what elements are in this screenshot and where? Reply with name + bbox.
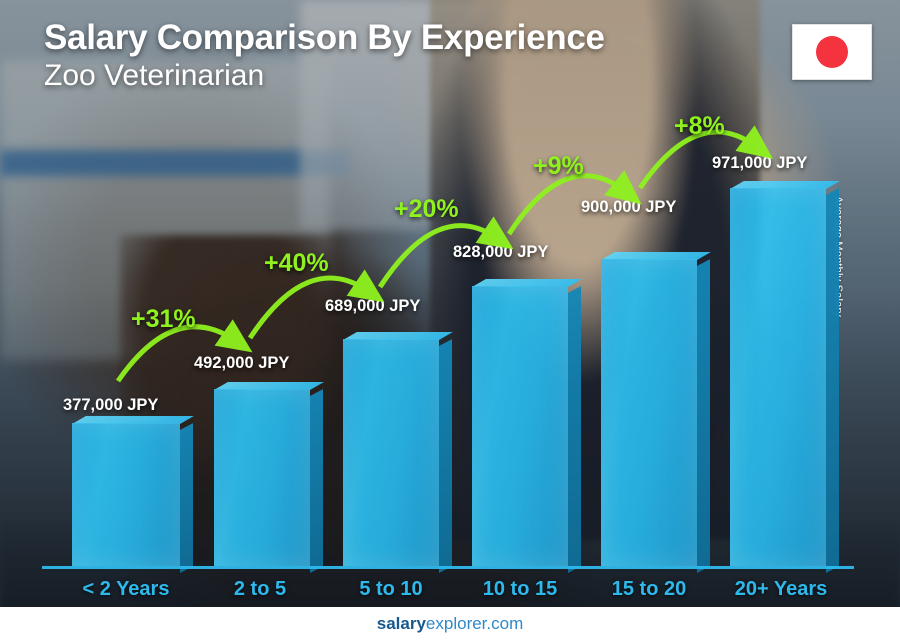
footer-bar: salaryexplorer.com bbox=[0, 607, 900, 641]
bar-5 bbox=[730, 188, 826, 566]
bar-0 bbox=[72, 423, 180, 566]
bar-face-0 bbox=[72, 423, 180, 566]
bar-4 bbox=[601, 259, 697, 566]
bar-face-1 bbox=[214, 389, 310, 566]
brand-salary: salary bbox=[377, 614, 426, 633]
bar-value-2: 689,000 JPY bbox=[325, 297, 420, 316]
bar-value-0: 377,000 JPY bbox=[63, 396, 158, 415]
x-label-0: < 2 Years bbox=[52, 578, 200, 601]
growth-label-0: +31% bbox=[131, 305, 196, 334]
site-brand[interactable]: salaryexplorer.com bbox=[0, 607, 900, 641]
brand-tld: .com bbox=[486, 614, 523, 633]
brand-explorer: explorer bbox=[426, 614, 486, 633]
bar-face-2 bbox=[343, 339, 439, 566]
growth-label-2: +20% bbox=[394, 195, 459, 224]
bar-value-1: 492,000 JPY bbox=[194, 354, 289, 373]
bar-3 bbox=[472, 286, 568, 566]
x-axis-line bbox=[42, 566, 854, 569]
growth-label-3: +9% bbox=[533, 152, 584, 181]
bar-side-2 bbox=[439, 339, 452, 573]
bar-side-5 bbox=[826, 188, 839, 573]
chart-canvas: Salary Comparison By Experience Zoo Vete… bbox=[0, 0, 900, 641]
growth-label-1: +40% bbox=[264, 249, 329, 278]
bar-value-4: 900,000 JPY bbox=[581, 198, 676, 217]
bar-2 bbox=[343, 339, 439, 566]
growth-label-4: +8% bbox=[674, 112, 725, 141]
bar-face-4 bbox=[601, 259, 697, 566]
bar-side-3 bbox=[568, 286, 581, 573]
bar-face-5 bbox=[730, 188, 826, 566]
bar-value-5: 971,000 JPY bbox=[712, 154, 807, 173]
x-label-5: 20+ Years bbox=[708, 578, 854, 601]
x-label-1: 2 to 5 bbox=[190, 578, 330, 601]
bar-face-3 bbox=[472, 286, 568, 566]
x-label-4: 15 to 20 bbox=[576, 578, 722, 601]
x-label-3: 10 to 15 bbox=[447, 578, 593, 601]
bar-1 bbox=[214, 389, 310, 566]
x-label-2: 5 to 10 bbox=[318, 578, 464, 601]
bar-side-4 bbox=[697, 259, 710, 573]
bar-value-3: 828,000 JPY bbox=[453, 243, 548, 262]
bar-side-1 bbox=[310, 389, 323, 573]
bar-side-0 bbox=[180, 423, 193, 573]
